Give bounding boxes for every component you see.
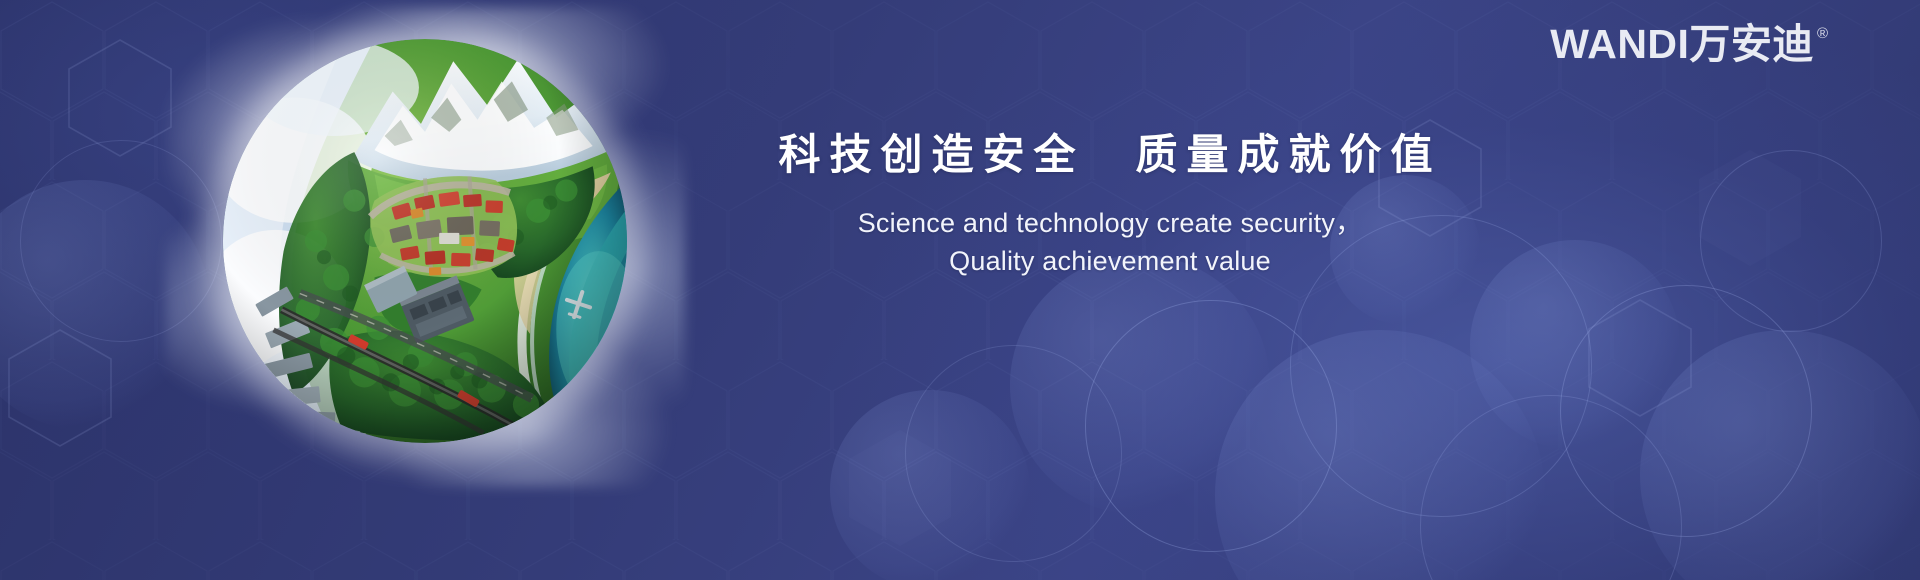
tiny-planet-globe <box>205 25 645 465</box>
subtitle-line-1: Science and technology create security， <box>858 208 1363 238</box>
hero-banner: WANDI万安迪 ® 科技创造安全 质量成就价值 Science and tec… <box>0 0 1920 580</box>
subtitle-english: Science and technology create security， … <box>760 204 1460 281</box>
globe-image <box>223 39 627 443</box>
banner-copy: 科技创造安全 质量成就价值 Science and technology cre… <box>760 130 1460 280</box>
registered-trademark-icon: ® <box>1817 26 1828 41</box>
subtitle-line-2: Quality achievement value <box>760 242 1460 280</box>
brand-logo[interactable]: WANDI万安迪 ® <box>1550 24 1828 65</box>
headline-slogan: 科技创造安全 质量成就价值 <box>760 130 1460 180</box>
brand-logo-text: WANDI万安迪 <box>1550 24 1814 65</box>
